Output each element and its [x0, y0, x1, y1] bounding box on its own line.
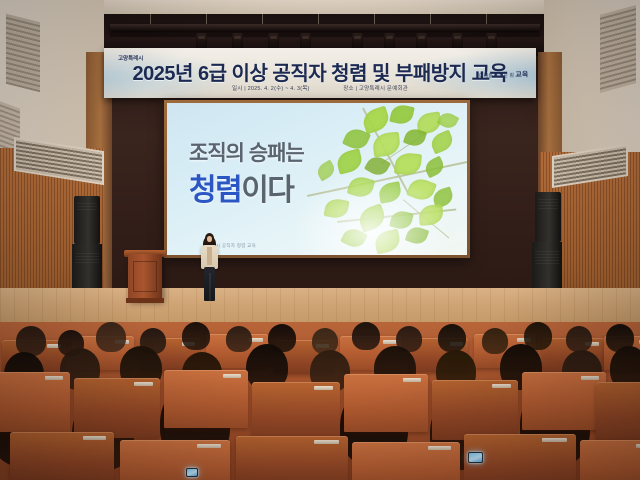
seat-number-tag [428, 446, 452, 450]
banner-slogan: 미래를 키우는 힘 교육 [479, 70, 528, 81]
seat-number-tag [492, 384, 511, 388]
presenter-face [207, 236, 212, 242]
audience-seat[interactable] [236, 436, 348, 480]
presenter-jacket [201, 245, 218, 269]
seat-number-tag [542, 438, 567, 442]
audience-seat[interactable] [522, 372, 606, 430]
podium-panel [133, 261, 157, 292]
seat-number-tag [636, 444, 640, 448]
podium-base [126, 298, 164, 303]
slide-headline-top: 조직의 승패는 [189, 137, 304, 167]
banner-title: 2025년 6급 이상 공직자 청렴 및 부패방지 교육 [104, 57, 536, 86]
audience-member [226, 326, 252, 352]
slide-leaf [437, 110, 460, 132]
seat-number-tag [403, 378, 421, 382]
event-banner: 고양특례시 2025년 6급 이상 공직자 청렴 및 부패방지 교육 일시 | … [104, 48, 536, 98]
projection-screen: 조직의 승패는 청렴이다 고양시 공직자 청렴 교육 [167, 103, 467, 255]
audience-seat[interactable] [432, 380, 518, 440]
audience-seat[interactable] [596, 382, 640, 442]
audience-phone-screen[interactable] [468, 452, 483, 463]
audience-seat[interactable] [0, 372, 70, 432]
audience-member [482, 328, 508, 354]
speaker-grill-icon [538, 199, 559, 209]
audience-seat[interactable] [352, 442, 460, 480]
seat-number-tag [383, 340, 397, 344]
seat-number-tag [83, 436, 106, 440]
slide-headline-bottom: 청렴이다 [189, 165, 293, 209]
slide-sun-glow [281, 164, 461, 255]
lighting-truss-bar-secondary [110, 33, 540, 37]
slide-headline-highlight: 청렴 [189, 174, 241, 207]
audience-member [96, 322, 126, 352]
speaker-grill-icon [77, 203, 98, 213]
speaker-right-top [535, 192, 561, 242]
lighting-truss-bar [110, 24, 540, 31]
audience-member [566, 326, 592, 352]
slide-leaf [428, 130, 455, 155]
audience-seat[interactable] [252, 382, 340, 444]
speaker-grill-icon [535, 251, 559, 264]
auditorium-photo: 고양특례시 2025년 6급 이상 공직자 청렴 및 부패방지 교육 일시 | … [0, 0, 640, 480]
seat-number-tag [314, 440, 339, 444]
audience-seat[interactable] [580, 440, 640, 480]
audience-seat[interactable] [344, 374, 428, 432]
audience-member [438, 324, 466, 352]
podium [128, 254, 162, 300]
banner-slogan-small: 미래를 키우는 힘 [479, 73, 514, 80]
seat-number-tag [134, 382, 153, 386]
speaker-left-top [74, 196, 100, 244]
banner-slogan-big: 교육 [515, 72, 528, 79]
audience-seat[interactable] [164, 370, 248, 428]
audience-seat[interactable] [10, 432, 114, 480]
audience-member [352, 322, 380, 350]
ceiling-vent-left-upper-icon [6, 14, 40, 92]
slide-leaf [389, 103, 414, 126]
presenter-head [205, 233, 214, 243]
presenter-legs [204, 267, 215, 301]
audience-seat[interactable] [74, 378, 160, 438]
seat-number-tag [45, 376, 63, 380]
banner-date: 일시 | 2025. 4. 2(수) ~ 4. 3(목) [232, 86, 310, 92]
audience-seating-area [0, 322, 640, 480]
banner-subtitle: 일시 | 2025. 4. 2(수) ~ 4. 3(목) 장소 | 고양특례시 … [104, 84, 536, 92]
seat-number-tag [314, 386, 333, 390]
audience-phone-screen[interactable] [186, 468, 198, 477]
seat-number-tag [581, 376, 599, 380]
speaker-grill-icon [75, 253, 99, 265]
audience-member [182, 322, 210, 350]
audience-seat[interactable] [120, 440, 230, 480]
seat-number-tag [197, 444, 221, 448]
seat-number-tag [223, 374, 241, 378]
presenter-inner-top [207, 247, 212, 265]
banner-place: 장소 | 고양특례시 문예회관 [343, 86, 408, 92]
ceiling-vent-right-icon [600, 5, 636, 93]
slide-headline-rest: 이다 [241, 174, 293, 207]
